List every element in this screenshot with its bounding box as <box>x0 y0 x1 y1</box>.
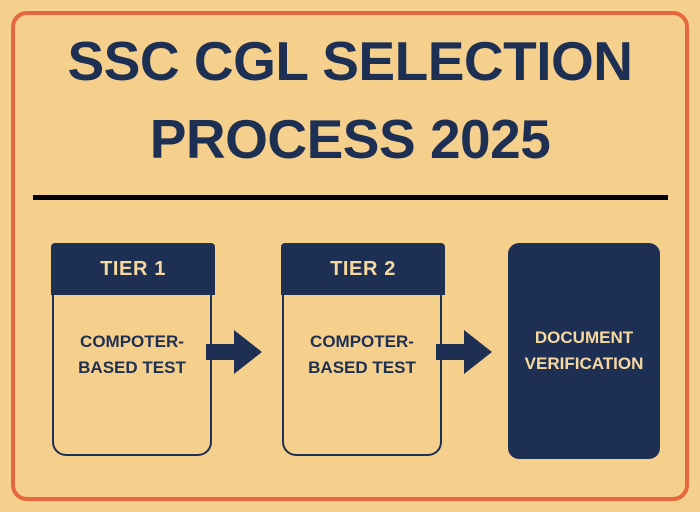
title-line-1: SSC CGL SELECTION <box>28 22 672 100</box>
flow-step-tier-2-body-line-2: BASED TEST <box>284 355 440 381</box>
flow-step-tier-2-header: TIER 2 <box>281 243 445 295</box>
poster-canvas: SSC CGL SELECTION PROCESS 2025 TIER 1 CO… <box>0 0 700 512</box>
title-line-2: PROCESS 2025 <box>28 100 672 178</box>
flow-step-tier-2-body-line-1: COMPOTER- <box>284 329 440 355</box>
flow-step-document-verification-body: DOCUMENT VERIFICATION <box>519 325 650 377</box>
flow-step-tier-1-header: TIER 1 <box>51 243 215 295</box>
flow-step-tier-1-body: COMPOTER- BASED TEST <box>52 295 212 456</box>
poster-title: SSC CGL SELECTION PROCESS 2025 <box>28 22 672 178</box>
flow-step-tier-2-header-label: TIER 2 <box>330 258 396 281</box>
flow-step-tier-2-body: COMPOTER- BASED TEST <box>282 295 442 456</box>
right-arrow-icon <box>436 330 492 374</box>
right-arrow-icon <box>206 330 262 374</box>
flow-step-tier-2: TIER 2 COMPOTER- BASED TEST <box>281 243 445 459</box>
flow-step-tier-1-body-line-1: COMPOTER- <box>54 329 210 355</box>
flow-step-tier-1: TIER 1 COMPOTER- BASED TEST <box>51 243 215 459</box>
flow-step-document-verification-line-2: VERIFICATION <box>519 351 650 377</box>
flow-step-tier-1-body-line-2: BASED TEST <box>54 355 210 381</box>
flow-step-document-verification-line-1: DOCUMENT <box>519 325 650 351</box>
selection-process-flow: TIER 1 COMPOTER- BASED TEST TIER 2 COMPO… <box>0 243 700 459</box>
title-divider-rule <box>33 195 668 200</box>
flow-step-tier-1-header-label: TIER 1 <box>100 258 166 281</box>
flow-step-document-verification: DOCUMENT VERIFICATION <box>508 243 660 459</box>
